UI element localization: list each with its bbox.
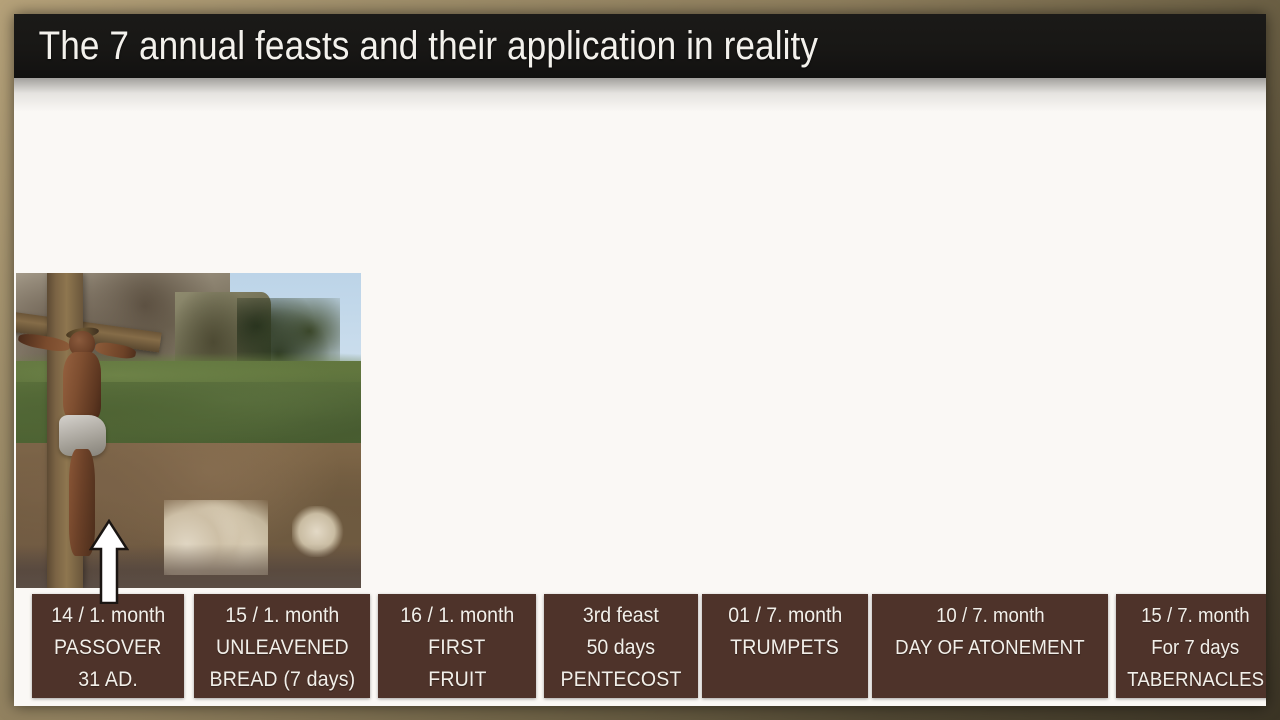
feast-line-3: TABERNACLES xyxy=(1127,664,1264,696)
presentation-slide: The 7 annual feasts and their applicatio… xyxy=(14,14,1266,706)
feast-line-3: BREAD (7 days) xyxy=(209,664,355,696)
title-bar-shadow xyxy=(14,78,1266,112)
feast-line-3: 31 AD. xyxy=(78,664,138,696)
feast-line-2: UNLEAVENED xyxy=(216,632,349,664)
crucifixion-photo xyxy=(16,273,361,588)
feast-line-3: FRUIT xyxy=(428,664,486,696)
slide-title-bar: The 7 annual feasts and their applicatio… xyxy=(14,14,1266,78)
feast-line-1: 01 / 7. month xyxy=(728,600,842,632)
feast-line-1: 16 / 1. month xyxy=(400,600,514,632)
figure-torso xyxy=(63,352,101,421)
feast-card-tabernacles[interactable]: 15 / 7. month For 7 days TABERNACLES xyxy=(1116,594,1266,698)
feast-line-2: DAY OF ATONEMENT xyxy=(895,632,1085,664)
feast-line-2: For 7 days xyxy=(1152,632,1240,664)
page-title: The 7 annual feasts and their applicatio… xyxy=(14,24,818,69)
feast-line-1: 15 / 1. month xyxy=(225,600,339,632)
feast-line-1: 10 / 7. month xyxy=(936,600,1045,632)
feast-card-first-fruit[interactable]: 16 / 1. month FIRST FRUIT xyxy=(378,594,536,698)
feast-line-2: TRUMPETS xyxy=(731,632,840,664)
feast-card-unleavened-bread[interactable]: 15 / 1. month UNLEAVENED BREAD (7 days) xyxy=(194,594,370,698)
feast-line-1: 3rd feast xyxy=(583,600,659,632)
feast-line-3: PENTECOST xyxy=(560,664,681,696)
feast-card-day-of-atonement[interactable]: 10 / 7. month DAY OF ATONEMENT xyxy=(872,594,1108,698)
feast-card-pentecost[interactable]: 3rd feast 50 days PENTECOST xyxy=(544,594,698,698)
up-arrow-icon xyxy=(89,519,129,604)
feast-line-2: 50 days xyxy=(587,632,655,664)
feast-card-passover[interactable]: 14 / 1. month PASSOVER 31 AD. xyxy=(32,594,184,698)
feast-line-2: PASSOVER xyxy=(54,632,162,664)
feast-line-1: 15 / 7. month xyxy=(1141,600,1250,632)
feast-card-row: 14 / 1. month PASSOVER 31 AD. 15 / 1. mo… xyxy=(14,594,1266,698)
feast-line-1: 14 / 1. month xyxy=(51,600,165,632)
feast-card-trumpets[interactable]: 01 / 7. month TRUMPETS xyxy=(702,594,868,698)
feast-line-2: FIRST xyxy=(428,632,485,664)
